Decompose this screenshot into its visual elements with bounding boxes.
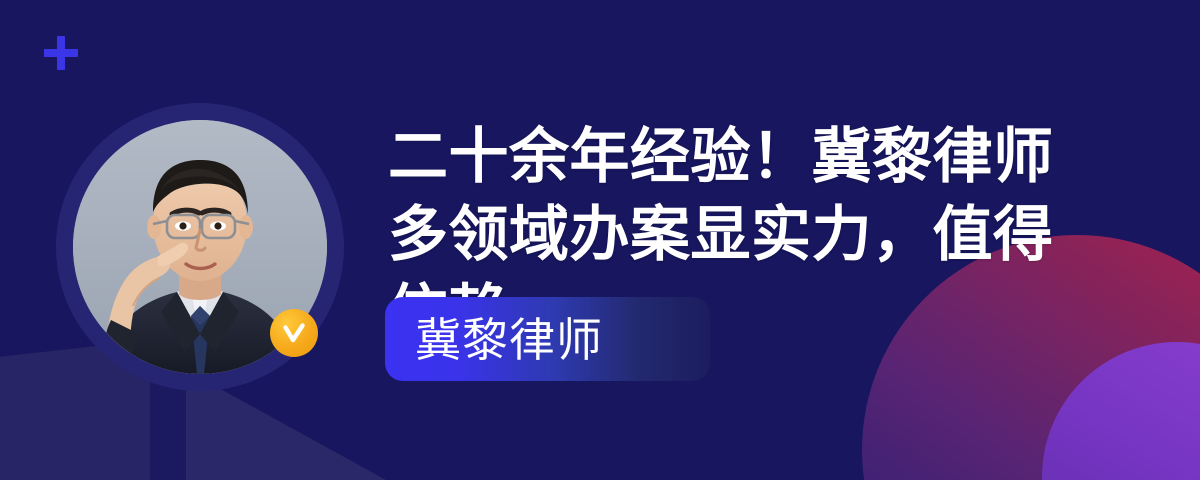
- plus-icon: [44, 36, 78, 70]
- lawyer-name-button[interactable]: [385, 297, 710, 381]
- promo-banner: 二十余年经验！冀黎律师 多领域办案显实力，值得 信赖 冀黎律师: [0, 0, 1200, 480]
- avatar: [56, 103, 344, 391]
- decor-circle-small: [1042, 342, 1200, 480]
- verified-check-icon: [270, 309, 318, 357]
